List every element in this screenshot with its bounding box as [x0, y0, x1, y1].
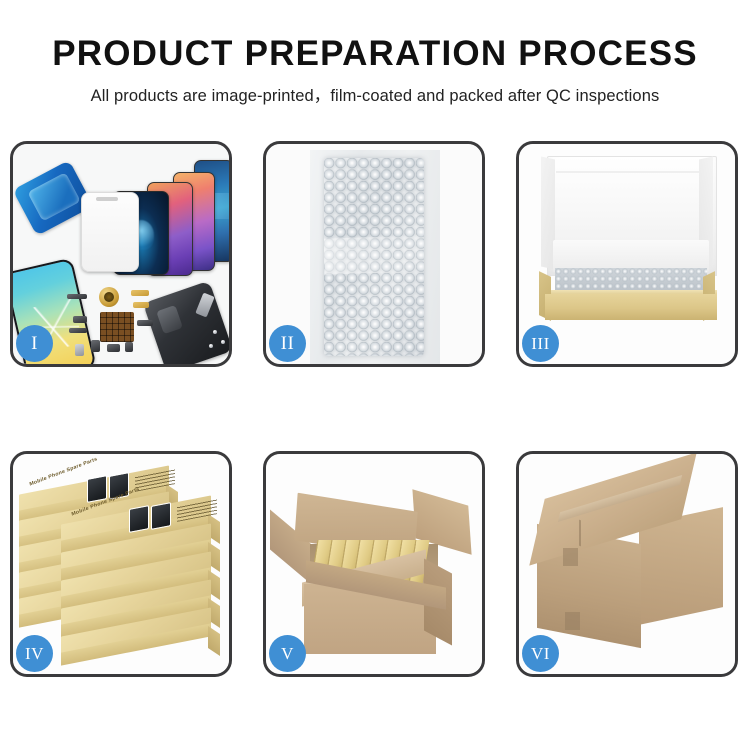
kraft-tray-front: [545, 294, 717, 320]
step-panel-3[interactable]: III: [516, 141, 738, 367]
step-badge-3: III: [522, 325, 559, 362]
flex-cable-part: [133, 302, 149, 308]
step-panel-2[interactable]: II: [263, 141, 485, 367]
retail-box: [61, 622, 211, 648]
small-part: [137, 320, 153, 326]
carton-tab: [563, 548, 578, 566]
step-4-image: Mobile Phone Spare Parts: [13, 454, 229, 674]
page-subtitle: All products are image-printed，film-coat…: [0, 82, 750, 106]
carton-tab: [565, 612, 580, 630]
small-part: [107, 344, 120, 352]
step-3-image: III: [519, 144, 735, 364]
bubble-wrap-pouch: [324, 158, 424, 356]
step-panel-5[interactable]: V: [263, 451, 485, 677]
small-part: [73, 316, 87, 323]
step-2-image: II: [266, 144, 482, 364]
step-badge-6: VI: [522, 635, 559, 672]
step-panel-6[interactable]: VI: [516, 451, 738, 677]
flex-cable-part: [131, 290, 149, 296]
step-panel-4[interactable]: Mobile Phone Spare Parts: [10, 451, 232, 677]
step-5-image: V: [266, 454, 482, 674]
step-badge-1: I: [16, 325, 53, 362]
step-panel-1[interactable]: I: [10, 141, 232, 367]
carton-seam: [579, 520, 581, 547]
step-1-image: I: [13, 144, 229, 364]
screw-part: [209, 344, 213, 348]
small-part: [69, 328, 87, 333]
step-6-image: VI: [519, 454, 735, 674]
step-badge-4: IV: [16, 635, 53, 672]
speaker-ring-part: [99, 287, 119, 307]
page-title: PRODUCT PREPARATION PROCESS: [0, 34, 750, 74]
logic-board-part: [100, 312, 134, 342]
screw-part: [221, 340, 225, 344]
process-step-grid: I II III: [10, 140, 740, 685]
header: PRODUCT PREPARATION PROCESS All products…: [0, 0, 750, 130]
small-part: [91, 340, 100, 352]
small-part: [125, 342, 133, 352]
battery-connector-part: [75, 344, 84, 356]
small-part: [67, 294, 87, 299]
screen-protector: [81, 192, 139, 272]
step-badge-2: II: [269, 325, 306, 362]
screw-part: [213, 330, 217, 334]
step-badge-5: V: [269, 635, 306, 672]
